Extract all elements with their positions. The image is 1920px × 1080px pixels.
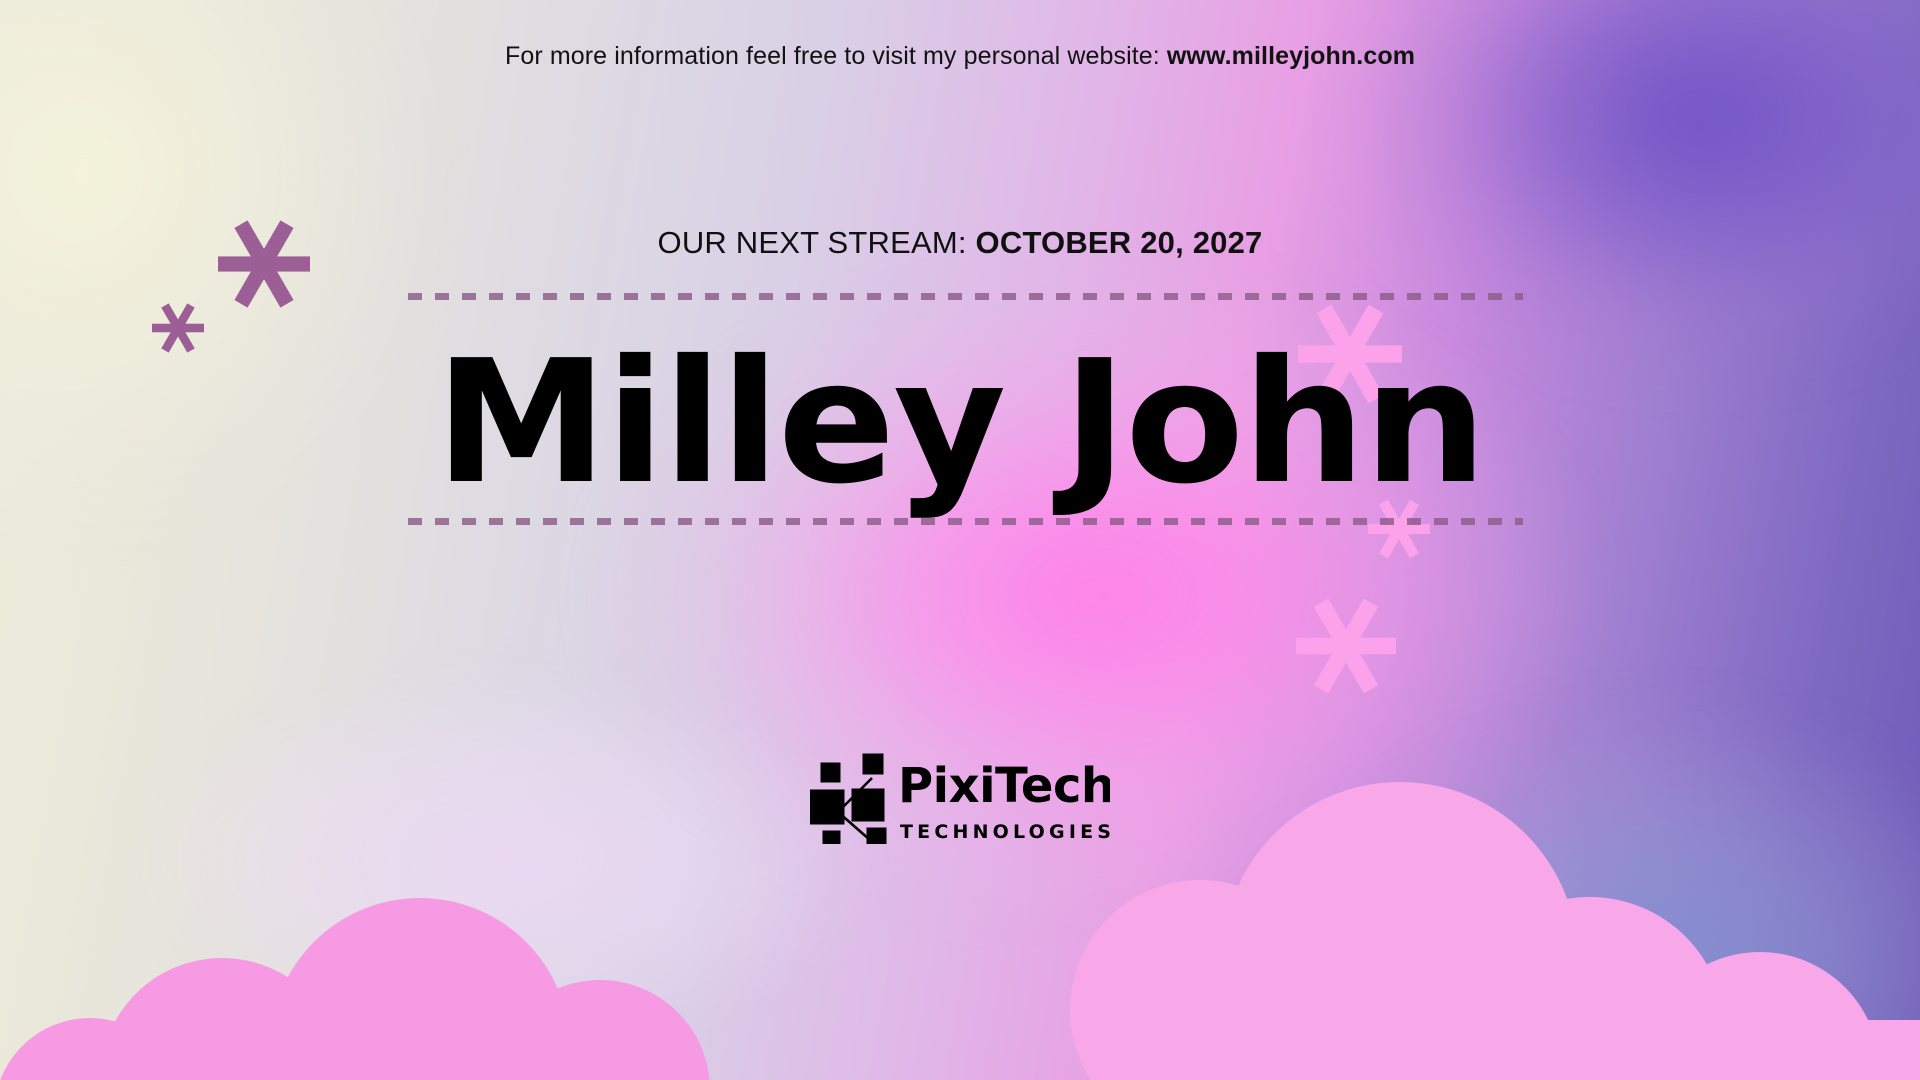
divider-top <box>408 293 1523 300</box>
logo-svg: PixiTech TECHNOLOGIES <box>810 746 1110 844</box>
logo-tagline: TECHNOLOGIES <box>900 821 1110 843</box>
next-stream-label: OUR NEXT STREAM: <box>658 225 976 260</box>
website-info-line: For more information feel free to visit … <box>0 42 1920 71</box>
asterisk-right-bottom-icon <box>1296 596 1396 696</box>
divider-bottom <box>408 518 1523 525</box>
logo-wordmark: PixiTech <box>898 758 1110 814</box>
pixitech-logo: PixiTech TECHNOLOGIES <box>810 746 1110 844</box>
website-url[interactable]: www.milleyjohn.com <box>1167 42 1415 70</box>
next-stream-date: OCTOBER 20, 2027 <box>976 225 1263 260</box>
cloud-base <box>1140 1020 1920 1080</box>
page-title: Milley John <box>0 338 1920 508</box>
next-stream-line: OUR NEXT STREAM: OCTOBER 20, 2027 <box>0 225 1920 261</box>
announcement-slide: For more information feel free to visit … <box>0 0 1920 1080</box>
logo-circuit-icon <box>810 754 886 844</box>
website-info-text: For more information feel free to visit … <box>505 42 1167 70</box>
